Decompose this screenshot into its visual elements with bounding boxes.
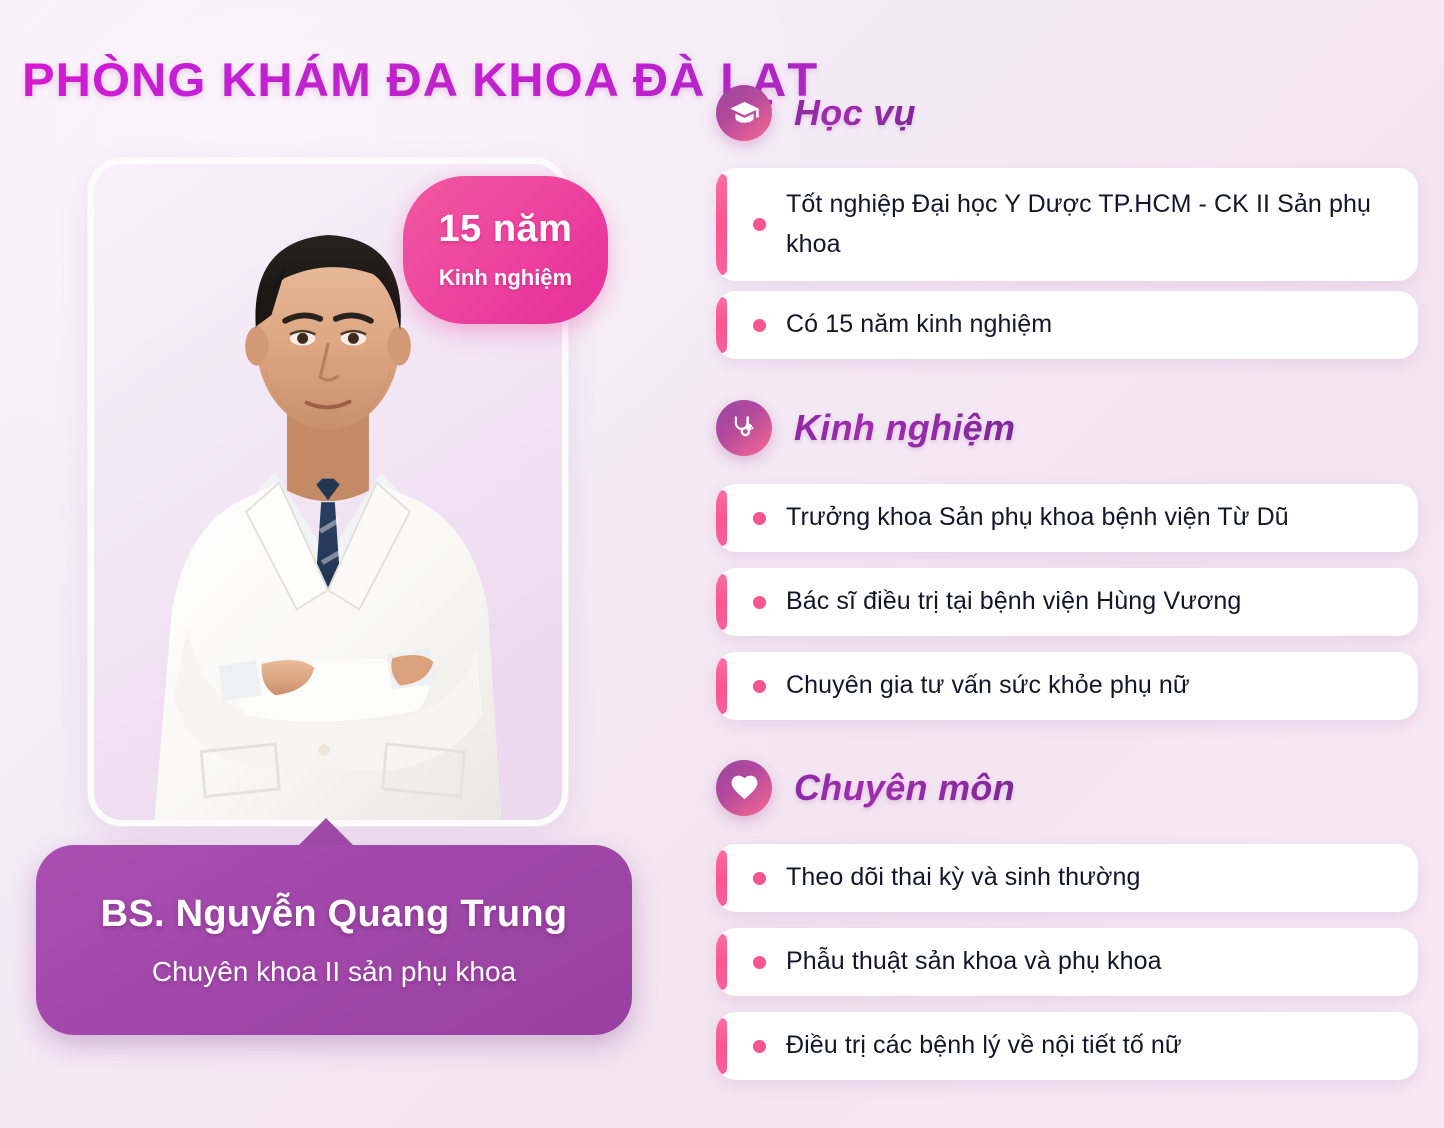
- credentials-column: Học vụ Tốt nghiệp Đại học Y Dược TP.HCM …: [708, 0, 1418, 1128]
- bullet-icon: [753, 596, 766, 609]
- list-item-text: Trưởng khoa Sản phụ khoa bệnh viện Từ Dũ: [786, 498, 1289, 538]
- list-item-text: Phẫu thuật sản khoa và phụ khoa: [786, 942, 1162, 982]
- list-item-text: Theo dõi thai kỳ và sinh thường: [786, 858, 1140, 898]
- list-item: Điều trị các bệnh lý về nội tiết tố nữ: [716, 1012, 1418, 1080]
- section-title: Học vụ: [794, 92, 916, 134]
- section-title: Chuyên môn: [794, 767, 1015, 809]
- card-accent-bar: [716, 490, 727, 546]
- nameplate-pointer: [296, 818, 356, 848]
- card-accent-bar: [716, 658, 727, 714]
- list-item: Trưởng khoa Sản phụ khoa bệnh viện Từ Dũ: [716, 484, 1418, 552]
- list-item: Theo dõi thai kỳ và sinh thường: [716, 844, 1418, 912]
- card-accent-bar: [716, 174, 727, 275]
- heart-icon: [716, 760, 772, 816]
- card-accent-bar: [716, 297, 727, 353]
- list-item-text: Điều trị các bệnh lý về nội tiết tố nữ: [786, 1026, 1182, 1066]
- section-header-kinh-nghiem: Kinh nghiệm: [716, 400, 1015, 456]
- list-item-text: Có 15 năm kinh nghiệm: [786, 305, 1052, 345]
- doctor-nameplate: BS. Nguyễn Quang Trung Chuyên khoa II sả…: [36, 845, 632, 1035]
- list-item: Tốt nghiệp Đại học Y Dược TP.HCM - CK II…: [716, 168, 1418, 281]
- list-item: Phẫu thuật sản khoa và phụ khoa: [716, 928, 1418, 996]
- list-item: Bác sĩ điều trị tại bệnh viện Hùng Vương: [716, 568, 1418, 636]
- doctor-name: BS. Nguyễn Quang Trung: [101, 893, 568, 936]
- graduation-cap-icon: [716, 85, 772, 141]
- bullet-icon: [753, 680, 766, 693]
- card-accent-bar: [716, 934, 727, 990]
- badge-years: 15 năm: [439, 209, 573, 251]
- list-item-text: Chuyên gia tư vấn sức khỏe phụ nữ: [786, 666, 1190, 706]
- bullet-icon: [753, 872, 766, 885]
- card-accent-bar: [716, 850, 727, 906]
- card-accent-bar: [716, 1018, 727, 1074]
- bullet-icon: [753, 956, 766, 969]
- stethoscope-icon: [716, 400, 772, 456]
- bullet-icon: [753, 512, 766, 525]
- list-item: Chuyên gia tư vấn sức khỏe phụ nữ: [716, 652, 1418, 720]
- bullet-icon: [753, 1040, 766, 1053]
- bullet-icon: [753, 218, 766, 231]
- list-item: Có 15 năm kinh nghiệm: [716, 291, 1418, 359]
- list-item-text: Bác sĩ điều trị tại bệnh viện Hùng Vương: [786, 582, 1241, 622]
- list-item-text: Tốt nghiệp Đại học Y Dược TP.HCM - CK II…: [786, 185, 1394, 264]
- section-header-hoc-vu: Học vụ: [716, 85, 916, 141]
- page-title: PHÒNG KHÁM ĐA KHOA ĐÀ LẠT: [22, 52, 818, 107]
- card-accent-bar: [716, 574, 727, 630]
- doctor-specialty: Chuyên khoa II sản phụ khoa: [152, 956, 516, 988]
- bullet-icon: [753, 319, 766, 332]
- badge-label: Kinh nghiệm: [439, 265, 572, 291]
- section-header-chuyen-mon: Chuyên môn: [716, 760, 1015, 816]
- experience-years-badge: 15 năm Kinh nghiệm: [403, 176, 608, 324]
- section-title: Kinh nghiệm: [794, 407, 1015, 449]
